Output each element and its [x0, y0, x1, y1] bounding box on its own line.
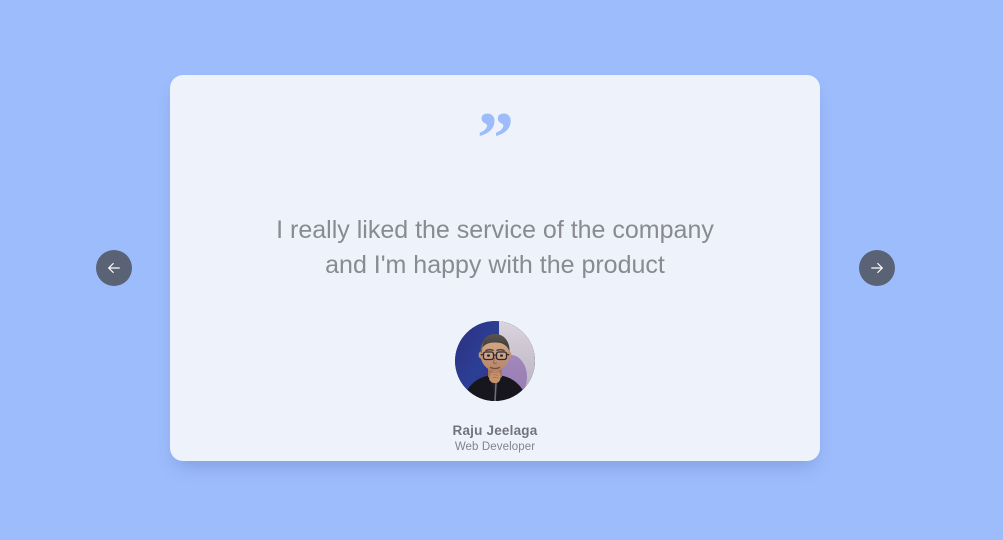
avatar	[455, 321, 535, 401]
author-role: Web Developer	[455, 441, 535, 453]
next-slide-button[interactable]	[859, 250, 895, 286]
arrow-right-icon	[868, 259, 886, 277]
quote-line: I really liked the service of the compan…	[215, 213, 775, 248]
author-name: Raju Jeelaga	[453, 423, 538, 438]
testimonial-quote: I really liked the service of the compan…	[215, 213, 775, 283]
testimonial-card: ” I really liked the service of the comp…	[170, 75, 820, 461]
prev-slide-button[interactable]	[96, 250, 132, 286]
quote-mark-icon: ”	[477, 112, 513, 168]
quote-line: and I'm happy with the product	[215, 248, 775, 283]
testimonial-slider: ” I really liked the service of the comp…	[0, 0, 1003, 540]
arrow-left-icon	[105, 259, 123, 277]
author-block: Raju Jeelaga Web Developer	[453, 321, 538, 453]
